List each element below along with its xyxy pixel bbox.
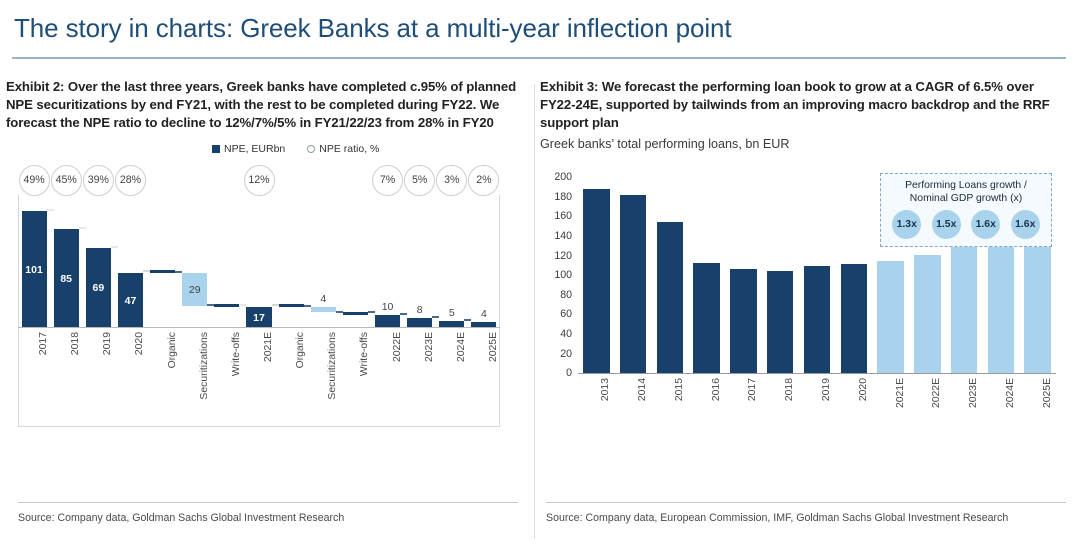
exhibit-2-panel: Exhibit 2: Over the last three years, Gr…	[6, 78, 534, 548]
bar	[693, 263, 719, 374]
y-axis-tick: 160	[540, 210, 572, 222]
waterfall-legend: NPE, EURbn NPE ratio, %	[212, 143, 379, 155]
growth-ratio-chip: 1.5x	[932, 210, 961, 239]
source-divider-right	[546, 502, 1066, 503]
waterfall-bar	[150, 270, 175, 273]
npe-ratio-badge: 39%	[83, 165, 114, 196]
waterfall-value-label: 10	[375, 301, 400, 313]
waterfall-connector	[272, 304, 279, 306]
bar	[1024, 232, 1050, 373]
growth-ratio-chip: 1.6x	[971, 210, 1000, 239]
waterfall-bar	[407, 318, 432, 327]
callout-chip-row: 1.3x1.5x1.6x1.6x	[887, 210, 1045, 239]
bar	[841, 264, 867, 374]
y-axis-tick: 0	[540, 367, 572, 379]
growth-ratio-chip: 1.6x	[1011, 210, 1040, 239]
waterfall-value-label: 29	[182, 284, 207, 296]
waterfall-connector	[368, 311, 375, 313]
bar	[877, 261, 903, 374]
waterfall-x-labels: 2017201820192020OrganicSecuritizationsWr…	[18, 330, 500, 426]
waterfall-value-label: 47	[118, 295, 143, 307]
waterfall-x-label: Write-offs	[231, 332, 242, 376]
waterfall-bar	[375, 315, 400, 326]
waterfall-x-label: 2022E	[392, 332, 403, 362]
bar-x-label: 2025E	[1042, 378, 1053, 408]
waterfall-baseline	[18, 327, 500, 328]
waterfall-value-label: 8	[407, 304, 432, 316]
bar-x-label: 2022E	[931, 378, 942, 408]
waterfall-bar	[279, 304, 304, 307]
legend-item-npe-eurbn: NPE, EURbn	[212, 143, 285, 155]
bar	[914, 255, 940, 374]
waterfall-connector	[207, 304, 214, 306]
legend-label: NPE, EURbn	[224, 143, 285, 155]
exhibit-2-heading: Exhibit 2: Over the last three years, Gr…	[6, 78, 534, 133]
waterfall-value-label: 4	[311, 293, 336, 305]
npe-ratio-badge: 7%	[372, 165, 403, 196]
y-axis-tick: 180	[540, 191, 572, 203]
y-axis-tick: 60	[540, 308, 572, 320]
waterfall-x-label: 2017	[38, 332, 49, 355]
bar-chart-x-labels: 201320142015201620172018201920202021E202…	[578, 376, 1056, 440]
bar-x-label: 2017	[747, 378, 758, 401]
waterfall-x-label: 2018	[70, 332, 81, 355]
bar	[730, 269, 756, 373]
exhibit-3-heading: Exhibit 3: We forecast the performing lo…	[540, 78, 1072, 133]
waterfall-x-label: Organic	[295, 332, 306, 368]
bar-x-label: 2021E	[895, 378, 906, 408]
waterfall-value-label: 5	[439, 307, 464, 319]
growth-ratio-chip: 1.3x	[892, 210, 921, 239]
waterfall-bar	[343, 312, 368, 315]
waterfall-connector	[400, 313, 407, 315]
waterfall-x-label: Organic	[167, 332, 178, 368]
bar-x-label: 2013	[600, 378, 611, 401]
npe-ratio-badge: 49%	[19, 165, 50, 196]
open-circle-icon	[307, 145, 315, 153]
waterfall-x-label: 2024E	[456, 332, 467, 362]
bar	[951, 247, 977, 373]
waterfall-x-label: 2025E	[488, 332, 499, 362]
waterfall-value-label: 17	[246, 312, 271, 324]
bar-x-label: 2024E	[1005, 378, 1016, 408]
bar	[657, 222, 683, 373]
y-axis-tick: 20	[540, 348, 572, 360]
waterfall-bars: 1018569472917410854	[18, 201, 500, 327]
callout-title-line1: Performing Loans growth /	[887, 179, 1045, 192]
callout-title-line2: Nominal GDP growth (x)	[887, 192, 1045, 205]
waterfall-connector	[79, 227, 86, 229]
waterfall-connector	[239, 304, 246, 306]
source-right: Source: Company data, European Commissio…	[546, 512, 1008, 524]
bar	[988, 239, 1014, 373]
page-title: The story in charts: Greek Banks at a mu…	[14, 13, 731, 44]
bar-x-label: 2015	[674, 378, 685, 401]
y-axis-tick: 80	[540, 289, 572, 301]
panel-divider	[534, 84, 535, 539]
waterfall-value-label: 4	[471, 308, 496, 320]
waterfall-x-label: Securitizations	[199, 332, 210, 400]
waterfall-x-label: 2019	[102, 332, 113, 355]
bar-x-label: 2019	[821, 378, 832, 401]
bar-x-label: 2023E	[968, 378, 979, 408]
y-axis-tick: 140	[540, 230, 572, 242]
y-axis-tick: 40	[540, 328, 572, 340]
y-axis-tick: 120	[540, 250, 572, 262]
waterfall-x-label: Write-offs	[359, 332, 370, 376]
source-divider-left	[18, 502, 518, 503]
waterfall-x-label: 2023E	[424, 332, 435, 362]
y-axis-tick: 100	[540, 269, 572, 281]
waterfall-connector	[304, 305, 311, 307]
waterfall-connector	[464, 319, 471, 321]
performing-loans-chart: 020406080100120140160180200 201320142015…	[540, 163, 1072, 453]
growth-ratio-callout: Performing Loans growth / Nominal GDP gr…	[880, 173, 1052, 247]
waterfall-connector	[111, 246, 118, 248]
waterfall-connector	[336, 311, 343, 313]
waterfall-x-label: 2020	[134, 332, 145, 355]
waterfall-connector	[143, 270, 150, 272]
bar	[620, 195, 646, 373]
waterfall-connector	[175, 271, 182, 273]
slide-page: The story in charts: Greek Banks at a mu…	[0, 0, 1078, 557]
waterfall-x-label: 2021E	[263, 332, 274, 362]
waterfall-value-label: 101	[22, 264, 47, 276]
npe-ratio-badge: 2%	[468, 165, 499, 196]
npe-ratio-badge: 12%	[244, 165, 275, 196]
bar	[583, 189, 609, 373]
waterfall-value-label: 69	[86, 282, 111, 294]
bar-x-label: 2014	[637, 378, 648, 401]
bar-x-label: 2020	[858, 378, 869, 401]
exhibit-3-panel: Exhibit 3: We forecast the performing lo…	[540, 78, 1072, 548]
legend-label: NPE ratio, %	[319, 143, 379, 155]
bar-chart-body: 020406080100120140160180200 201320142015…	[540, 177, 1060, 407]
exhibit-3-subheading: Greek banks’ total performing loans, bn …	[540, 136, 1072, 154]
legend-item-npe-ratio: NPE ratio, %	[307, 143, 379, 155]
bar	[804, 266, 830, 373]
npe-ratio-badge: 3%	[436, 165, 467, 196]
y-axis-ticks: 020406080100120140160180200	[540, 177, 572, 373]
bar-chart-baseline	[578, 373, 1056, 374]
bar-x-label: 2018	[784, 378, 795, 401]
npe-ratio-badge: 5%	[404, 165, 435, 196]
waterfall-x-label: Securitizations	[327, 332, 338, 400]
source-left: Source: Company data, Goldman Sachs Glob…	[18, 512, 344, 524]
waterfall-connector	[432, 316, 439, 318]
npe-ratio-badge: 28%	[115, 165, 146, 196]
title-divider	[12, 57, 1066, 59]
waterfall-value-label: 85	[54, 273, 79, 285]
waterfall-bar	[311, 307, 336, 312]
bar-x-label: 2016	[711, 378, 722, 401]
npe-ratio-badge: 45%	[51, 165, 82, 196]
bar	[767, 271, 793, 373]
npe-ratio-badges: 49%45%39%28%12%7%5%3%2%	[6, 165, 534, 199]
y-axis-tick: 200	[540, 171, 572, 183]
waterfall-connector	[47, 209, 54, 211]
filled-square-icon	[212, 145, 220, 153]
npe-waterfall-chart: NPE, EURbn NPE ratio, % 49%45%39%28%12%7…	[6, 143, 534, 443]
waterfall-bar	[214, 304, 239, 307]
